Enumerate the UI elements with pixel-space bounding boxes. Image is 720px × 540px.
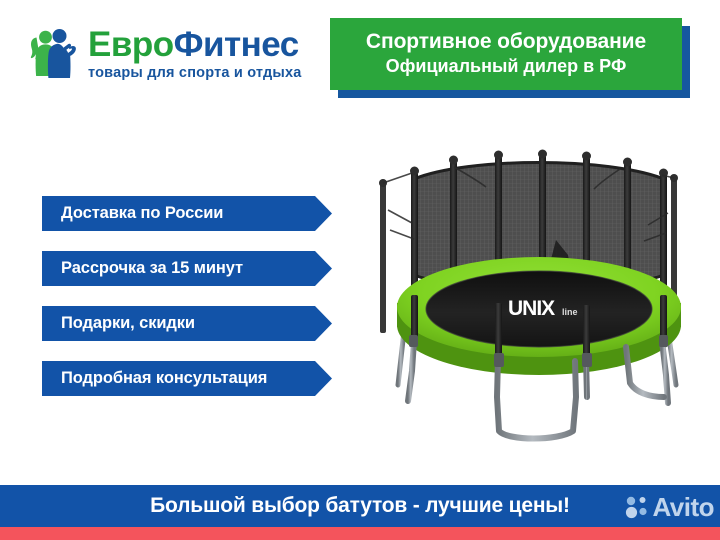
header-banner-line1: Спортивное оборудование [366, 30, 646, 54]
advertisement-canvas: ЕвроФитнес товары для спорта и отдыха Сп… [0, 0, 720, 540]
feature-label-3: Подарки, скидки [42, 314, 195, 333]
avito-wordmark: Avito [652, 494, 714, 520]
brand-name-part1: Евро [88, 25, 174, 64]
feature-arrow-1: Доставка по России [42, 196, 332, 231]
brand-tagline: товары для спорта и отдыха [88, 65, 302, 81]
avito-watermark: Avito [623, 491, 714, 523]
feature-label-4: Подробная консультация [42, 369, 267, 388]
feature-arrow-2: Рассрочка за 15 минут [42, 251, 332, 286]
feature-item-consultation[interactable]: Подробная консультация [42, 361, 362, 396]
svg-text:line: line [562, 307, 578, 317]
feature-list: Доставка по России Рассрочка за 15 минут… [42, 196, 362, 416]
feature-label-2: Рассрочка за 15 минут [42, 259, 243, 278]
footer-banner: Большой выбор батутов - лучшие цены! [0, 485, 720, 527]
header-banner-body: Спортивное оборудование Официальный диле… [330, 18, 682, 90]
feature-arrow-3: Подарки, скидки [42, 306, 332, 341]
feature-item-installment[interactable]: Рассрочка за 15 минут [42, 251, 362, 286]
header-banner: Спортивное оборудование Официальный диле… [330, 18, 690, 98]
feature-item-delivery[interactable]: Доставка по России [42, 196, 362, 231]
feature-arrow-4: Подробная консультация [42, 361, 332, 396]
fitness-people-icon [22, 23, 84, 85]
avito-dots-icon [623, 493, 651, 521]
brand-name-part2: Фитнес [174, 25, 299, 64]
feature-item-gifts[interactable]: Подарки, скидки [42, 306, 362, 341]
brand-name: ЕвроФитнес [88, 27, 302, 62]
feature-label-1: Доставка по России [42, 204, 223, 223]
brand-wordmark: ЕвроФитнес товары для спорта и отдыха [88, 27, 302, 81]
header-banner-line2: Официальный дилер в РФ [386, 56, 627, 78]
svg-text:UNIX: UNIX [508, 297, 555, 320]
footer-stripe [0, 527, 720, 540]
brand-logo: ЕвроФитнес товары для спорта и отдыха [22, 18, 332, 90]
footer-headline: Большой выбор батутов - лучшие цены! [150, 494, 570, 518]
product-image-trampoline: UNIX line [368, 135, 710, 470]
